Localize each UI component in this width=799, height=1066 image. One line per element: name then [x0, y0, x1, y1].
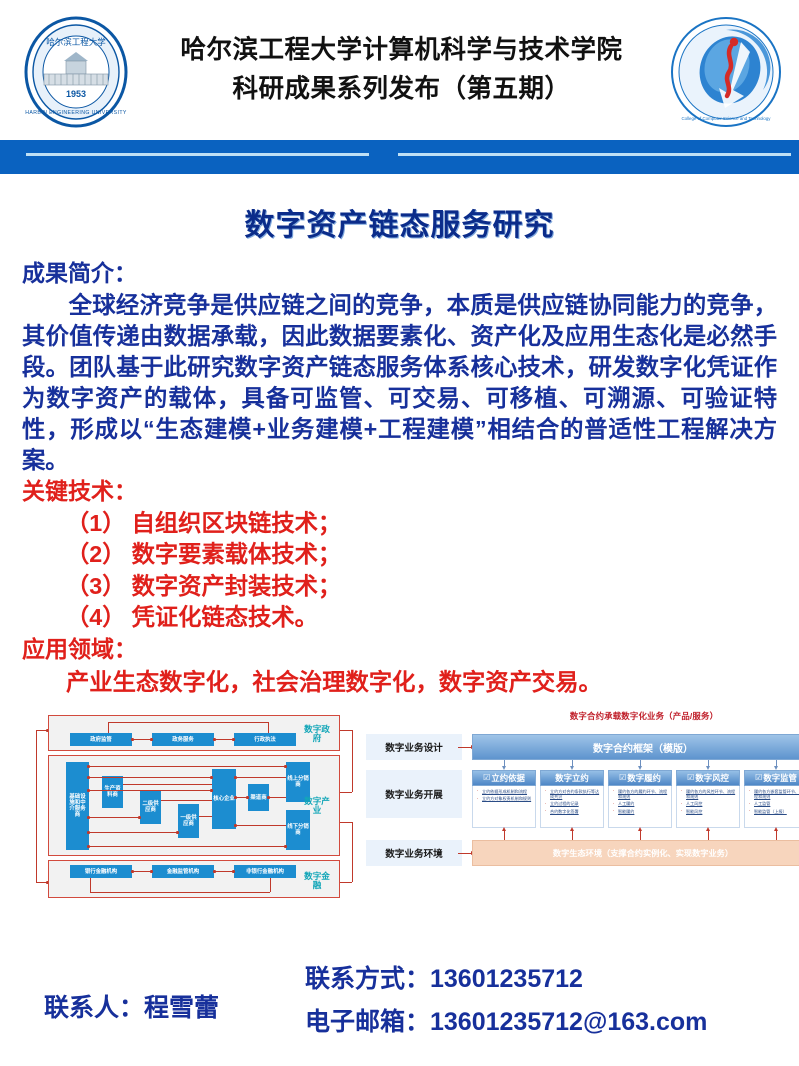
check-icon: ☑	[755, 774, 762, 782]
list-item: 履约各方的履约环节、流程和规则	[612, 789, 669, 799]
box-digital-contract-framework: 数字合约框架（模版）	[472, 734, 799, 760]
box-primary-supplier: 一级供应商	[178, 804, 199, 838]
wire-outer-right-mid2	[340, 822, 352, 823]
row-label-business-development: 数字业务开展	[366, 770, 462, 818]
list-item: （3）数字资产封装技术；	[66, 571, 777, 602]
column-body-digital-risk-control: 履约各方的风控环节、流程和规则 人工风控 智能风控	[676, 786, 740, 828]
contact-phone: 联系方式：13601235712	[305, 958, 707, 1001]
key-tech-number-1: （1）	[66, 510, 126, 536]
box-bank-financial-institution: 银行金融机构	[70, 865, 132, 878]
list-item: 人工风控	[680, 801, 737, 806]
header-title-block: 哈尔滨工程大学计算机科学与技术学院 科研成果系列发布（第五期）	[180, 34, 622, 105]
uptick-col-3	[640, 830, 641, 840]
list-item: 合约数字化签署	[544, 809, 601, 814]
column-digital-supervision: ☑ 数字监管 履约各方嵌套监管环节、流程和规则 人工监管 智能监管（上报）	[744, 770, 799, 828]
wire-fin-2-3	[214, 871, 234, 872]
list-item: （1）自组织区块链技术；	[66, 508, 777, 539]
wire-ind-8	[161, 800, 212, 801]
wire-dot	[176, 831, 179, 834]
column-header-label: 数字监管	[763, 772, 797, 784]
intro-paragraph: 全球经济竞争是供应链之间的竞争，本质是供应链协同能力的竞争，其价值传递由数据承载…	[22, 290, 777, 477]
contract-diagram-title: 数字合约承载数字化业务（产品/服务）	[484, 710, 799, 722]
contact-details: 联系方式：13601235712 电子邮箱：13601235712@163.co…	[305, 958, 707, 1043]
check-icon: ☑	[619, 774, 626, 782]
list-item: 智能履约	[612, 809, 669, 814]
box-government-supervision: 政府监管	[70, 733, 132, 746]
wire-dot	[87, 789, 90, 792]
wire-gov-1-2	[132, 739, 152, 740]
list-item: 人工监管	[748, 801, 799, 806]
wire-fin-bottom-left	[90, 878, 91, 892]
column-header-digital-supervision: ☑ 数字监管	[744, 770, 799, 786]
list-item: 立约方对象权责机制和规则	[476, 796, 533, 801]
list-item: 立约过程的记录	[544, 801, 601, 806]
wire-dot	[213, 738, 216, 741]
wire-dot	[87, 765, 90, 768]
list-item: 智能监管（上报）	[748, 809, 799, 814]
box-financial-regulator: 金融监管机构	[152, 865, 214, 878]
wire-outer-right-bottom	[340, 882, 352, 883]
row-label-business-design: 数字业务设计	[366, 734, 462, 760]
wire-dot	[150, 738, 153, 741]
wire-fin-bottom-right	[270, 878, 271, 892]
figure-supply-chain-ecosystem: 政府监管 政务服务 行政执法 数字政府 基础设施和中介服务商 生产资料商 二级供…	[30, 712, 362, 912]
box-government-services: 政务服务	[152, 733, 214, 746]
label-digital-government: 数字政府	[300, 725, 334, 744]
wire-dot	[87, 816, 90, 819]
list-item: 智能风控	[680, 809, 737, 814]
intro-heading: 成果简介：	[22, 258, 777, 290]
box-secondary-supplier: 二级供应商	[140, 790, 161, 824]
wire-gov-top-left	[108, 722, 109, 733]
wire-gov-2-3	[214, 739, 234, 740]
wire-outer-right-lower	[352, 822, 353, 882]
list-item: （2）数字要素载体技术；	[66, 539, 777, 570]
column-header-digital-risk-control: ☑ 数字风控	[676, 770, 740, 786]
key-tech-heading: 关键技术：	[22, 476, 777, 508]
wire-dot	[246, 796, 249, 799]
list-item: 立约依据形成机制和流程	[476, 789, 533, 794]
column-digital-risk-control: ☑ 数字风控 履约各方的风控环节、流程和规则 人工风控 智能风控	[676, 770, 740, 828]
key-tech-list: （1）自组织区块链技术； （2）数字要素载体技术； （3）数字资产封装技术； （…	[66, 508, 777, 634]
poster-content: 数字资产链态服务研究 成果简介： 全球经济竞争是供应链之间的竞争，本质是供应链协…	[0, 200, 799, 922]
connector-col-4	[708, 760, 709, 767]
list-item: 人工履约	[612, 801, 669, 806]
box-production-material-supplier: 生产资料商	[102, 776, 123, 808]
key-tech-text-3: 数字资产封装技术；	[132, 573, 342, 599]
key-tech-number-3: （3）	[66, 573, 126, 599]
list-item: 立约方对合约条款执行等达成共识	[544, 789, 601, 799]
check-icon: ☑	[483, 774, 490, 782]
header-title-line2: 科研成果系列发布（第五期）	[180, 73, 622, 106]
key-tech-text-1: 自组织区块链技术；	[132, 510, 342, 536]
harbin-engineering-university-logo: 哈尔滨工程大学 1953 HARBIN ENGINEERING UNIVERSI…	[22, 16, 130, 128]
band-rule-right	[398, 153, 791, 156]
wire-ind-4	[89, 817, 140, 818]
left-logo-english-name: HARBIN ENGINEERING UNIVERSITY	[25, 110, 127, 116]
wire-ind-3	[89, 790, 212, 791]
wire-dot	[87, 776, 90, 779]
label-digital-industry: 数字产业	[300, 797, 334, 816]
wire-dot	[210, 776, 213, 779]
wire-dot	[284, 765, 287, 768]
wire-dot	[232, 738, 235, 741]
poster-root: 哈尔滨工程大学 1953 HARBIN ENGINEERING UNIVERSI…	[0, 0, 799, 1066]
wire-gov-top	[108, 722, 268, 723]
wire-outer-left	[36, 730, 37, 882]
key-tech-text-4: 凭证化链态技术。	[132, 604, 318, 630]
box-core-enterprise: 核心企业	[212, 769, 236, 829]
column-header-label: 立约依据	[491, 772, 525, 784]
box-channel-distributor: 渠道商	[248, 784, 269, 811]
wire-outer-right-mid	[340, 792, 352, 793]
header-title-line1: 哈尔滨工程大学计算机科学与技术学院	[180, 34, 622, 67]
wire-dot	[87, 845, 90, 848]
wire-gov-top-right	[268, 722, 269, 733]
column-header-label: 数字立约	[555, 772, 589, 784]
applied-heading: 应用领域：	[22, 634, 777, 666]
wire-dot	[210, 789, 213, 792]
column-header-label: 数字风控	[695, 772, 729, 784]
connector-col-2	[572, 760, 573, 767]
box-administrative-enforcement: 行政执法	[234, 733, 296, 746]
column-digital-contracting: 数字立约 立约方对合约条款执行等达成共识 立约过程的记录 合约数字化签署	[540, 770, 604, 828]
wire-fin-bottom	[90, 892, 270, 893]
contact-email: 电子邮箱：13601235712@163.com	[305, 1001, 707, 1044]
uptick-col-1	[504, 830, 505, 840]
list-item: 履约各方嵌套监管环节、流程和规则	[748, 789, 799, 799]
uptick-col-4	[708, 830, 709, 840]
connector-col-5	[776, 760, 777, 767]
list-item: 履约各方的风控环节、流程和规则	[680, 789, 737, 799]
column-digital-performance: ☑ 数字履约 履约各方的履约环节、流程和规则 人工履约 智能履约	[608, 770, 672, 828]
connector-col-3	[640, 760, 641, 767]
wire-dot	[131, 870, 134, 873]
wire-dot	[232, 870, 235, 873]
wire-dot	[138, 816, 141, 819]
wire-dot	[150, 870, 153, 873]
poster-header: 哈尔滨工程大学 1953 HARBIN ENGINEERING UNIVERSI…	[0, 0, 799, 140]
box-digital-ecosystem-environment: 数字生态环境（支撑合约实例化、实现数字业务）	[472, 840, 799, 866]
column-header-digital-contracting: 数字立约	[540, 770, 604, 786]
uptick-col-2	[572, 830, 573, 840]
wire-ind-9	[199, 816, 212, 817]
uptick-col-5	[776, 830, 777, 840]
check-icon: ☑	[687, 774, 694, 782]
connector-col-1	[504, 760, 505, 767]
wire-dot	[234, 824, 237, 827]
wire-fin-1-2	[132, 871, 152, 872]
key-tech-number-4: （4）	[66, 604, 126, 630]
college-of-computer-science-logo: College of Computer Science and Technolo…	[667, 16, 785, 128]
figures-row: 政府监管 政务服务 行政执法 数字政府 基础设施和中介服务商 生产资料商 二级供…	[22, 712, 777, 922]
column-contract-basis: ☑ 立约依据 立约依据形成机制和流程 立约方对象权责机制和规则	[472, 770, 536, 828]
wire-ind-13	[236, 825, 286, 826]
wire-dot	[284, 845, 287, 848]
column-header-digital-performance: ☑ 数字履约	[608, 770, 672, 786]
figure-digital-contract: 数字合约承载数字化业务（产品/服务） 数字业务设计 数字合约框架（模版） 数字业…	[366, 710, 799, 910]
wire-dot	[234, 796, 237, 799]
box-offline-distributor: 线下分销商	[286, 810, 310, 850]
row-label-business-environment: 数字业务环境	[366, 840, 462, 866]
left-logo-year: 1953	[66, 89, 86, 99]
wire-outer-right-top	[340, 730, 352, 731]
wire-dot	[234, 776, 237, 779]
list-item: （4）凭证化链态技术。	[66, 602, 777, 633]
key-tech-text-2: 数字要素载体技术；	[132, 541, 342, 567]
contact-person: 联系人：程雪蕾	[44, 988, 219, 1024]
header-blue-band	[0, 140, 799, 174]
column-body-digital-performance: 履约各方的履约环节、流程和规则 人工履约 智能履约	[608, 786, 672, 828]
column-body-digital-contracting: 立约方对合约条款执行等达成共识 立约过程的记录 合约数字化签署	[540, 786, 604, 828]
wire-ind-12	[269, 797, 286, 798]
wire-ind-7	[123, 784, 212, 785]
key-tech-number-2: （2）	[66, 541, 126, 567]
contract-diagram: 数字合约承载数字化业务（产品/服务） 数字业务设计 数字合约框架（模版） 数字业…	[366, 710, 799, 910]
column-header-label: 数字履约	[627, 772, 661, 784]
wire-ind-6	[89, 846, 286, 847]
wire-dot	[87, 831, 90, 834]
box-nonbank-financial-institution: 非银行金融机构	[234, 865, 296, 878]
contact-block: 联系人：程雪蕾 联系方式：13601235712 电子邮箱：1360123571…	[0, 958, 799, 1044]
left-logo-university-name: 哈尔滨工程大学	[46, 37, 106, 47]
applied-body: 产业生态数字化，社会治理数字化，数字资产交易。	[66, 666, 777, 699]
wire-outer-right-upper	[352, 730, 353, 792]
wire-ind-10	[236, 777, 286, 778]
wire-dot	[213, 870, 216, 873]
wire-dot	[267, 796, 270, 799]
box-infrastructure-intermediary-service-provider: 基础设施和中介服务商	[66, 762, 89, 850]
label-digital-finance: 数字金融	[300, 872, 334, 891]
page-title: 数字资产链态服务研究	[22, 200, 777, 244]
column-header-contract-basis: ☑ 立约依据	[472, 770, 536, 786]
wire-ind-1	[89, 766, 286, 767]
column-body-digital-supervision: 履约各方嵌套监管环节、流程和规则 人工监管 智能监管（上报）	[744, 786, 799, 828]
wire-dot	[131, 738, 134, 741]
wire-ind-2	[89, 777, 212, 778]
band-rule-left	[26, 153, 369, 156]
wire-ind-5	[89, 832, 178, 833]
supply-chain-diagram: 政府监管 政务服务 行政执法 数字政府 基础设施和中介服务商 生产资料商 二级供…	[30, 712, 362, 908]
right-logo-english-name: College of Computer Science and Technolo…	[681, 116, 771, 121]
column-body-contract-basis: 立约依据形成机制和流程 立约方对象权责机制和规则	[472, 786, 536, 828]
